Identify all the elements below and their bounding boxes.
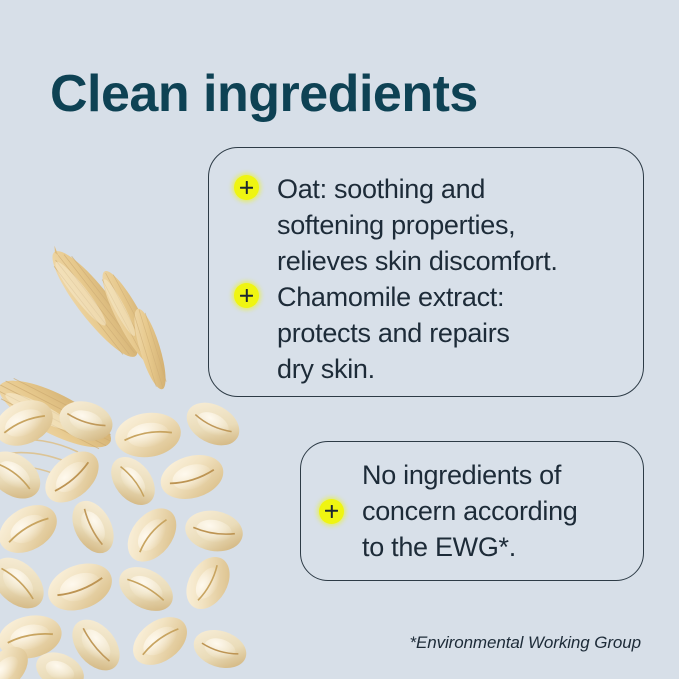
list-item: Oat: soothing and softening properties, …: [234, 171, 558, 279]
list-item-label: Chamomile extract: protects and repairs …: [277, 279, 510, 387]
oat-flakes-group: [0, 392, 250, 679]
plus-badge-icon: [234, 283, 259, 308]
list-item-label: No ingredients of concern according to t…: [362, 457, 578, 565]
page-title: Clean ingredients: [50, 63, 478, 125]
footnote: *Environmental Working Group: [409, 633, 641, 653]
oat-spikelet-group: [0, 238, 172, 479]
ingredients-card: Oat: soothing and softening properties, …: [208, 147, 644, 397]
plus-badge-icon: [234, 175, 259, 200]
list-item: Chamomile extract: protects and repairs …: [234, 279, 510, 387]
ewg-card: No ingredients of concern according to t…: [300, 441, 644, 581]
marketing-panel: Clean ingredients Oat: soothing and soft…: [0, 0, 679, 679]
plus-badge-icon: [319, 499, 344, 524]
list-item-label: Oat: soothing and softening properties, …: [277, 171, 558, 279]
list-item: No ingredients of concern according to t…: [319, 457, 578, 565]
